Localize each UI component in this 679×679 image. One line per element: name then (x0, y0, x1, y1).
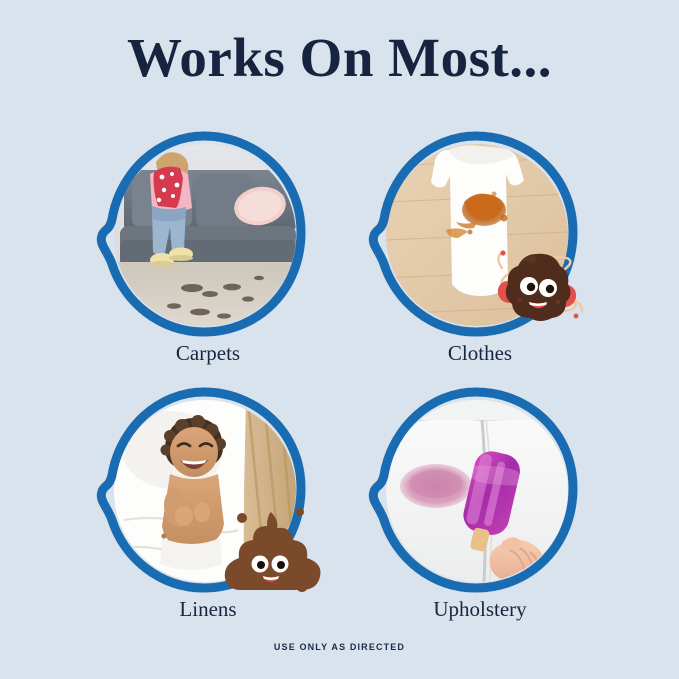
caption-upholstery: Upholstery (360, 596, 600, 622)
feature-grid: Carpets (0, 128, 679, 638)
grid-item-upholstery: Upholstery (360, 384, 600, 634)
carpets-photo-blob (98, 132, 310, 337)
caption-linens: Linens (88, 596, 328, 622)
grid-item-carpets: Carpets (88, 128, 328, 378)
linens-photo-blob (98, 388, 310, 593)
clothes-blob-ring (370, 132, 582, 337)
grid-item-clothes: Clothes (360, 128, 600, 378)
grid-item-linens: Linens (88, 384, 328, 634)
clothes-photo-blob (370, 132, 582, 337)
caption-clothes: Clothes (360, 340, 600, 366)
carpets-blob-ring (98, 132, 310, 337)
linens-blob-ring (98, 388, 310, 593)
page-title: Works On Most... (0, 26, 679, 90)
upholstery-blob-ring (370, 388, 582, 593)
fineprint-disclaimer: USE ONLY AS DIRECTED (0, 641, 679, 653)
promo-image-root: Works On Most... (0, 0, 679, 679)
upholstery-photo-blob (370, 388, 582, 593)
caption-carpets: Carpets (88, 340, 328, 366)
